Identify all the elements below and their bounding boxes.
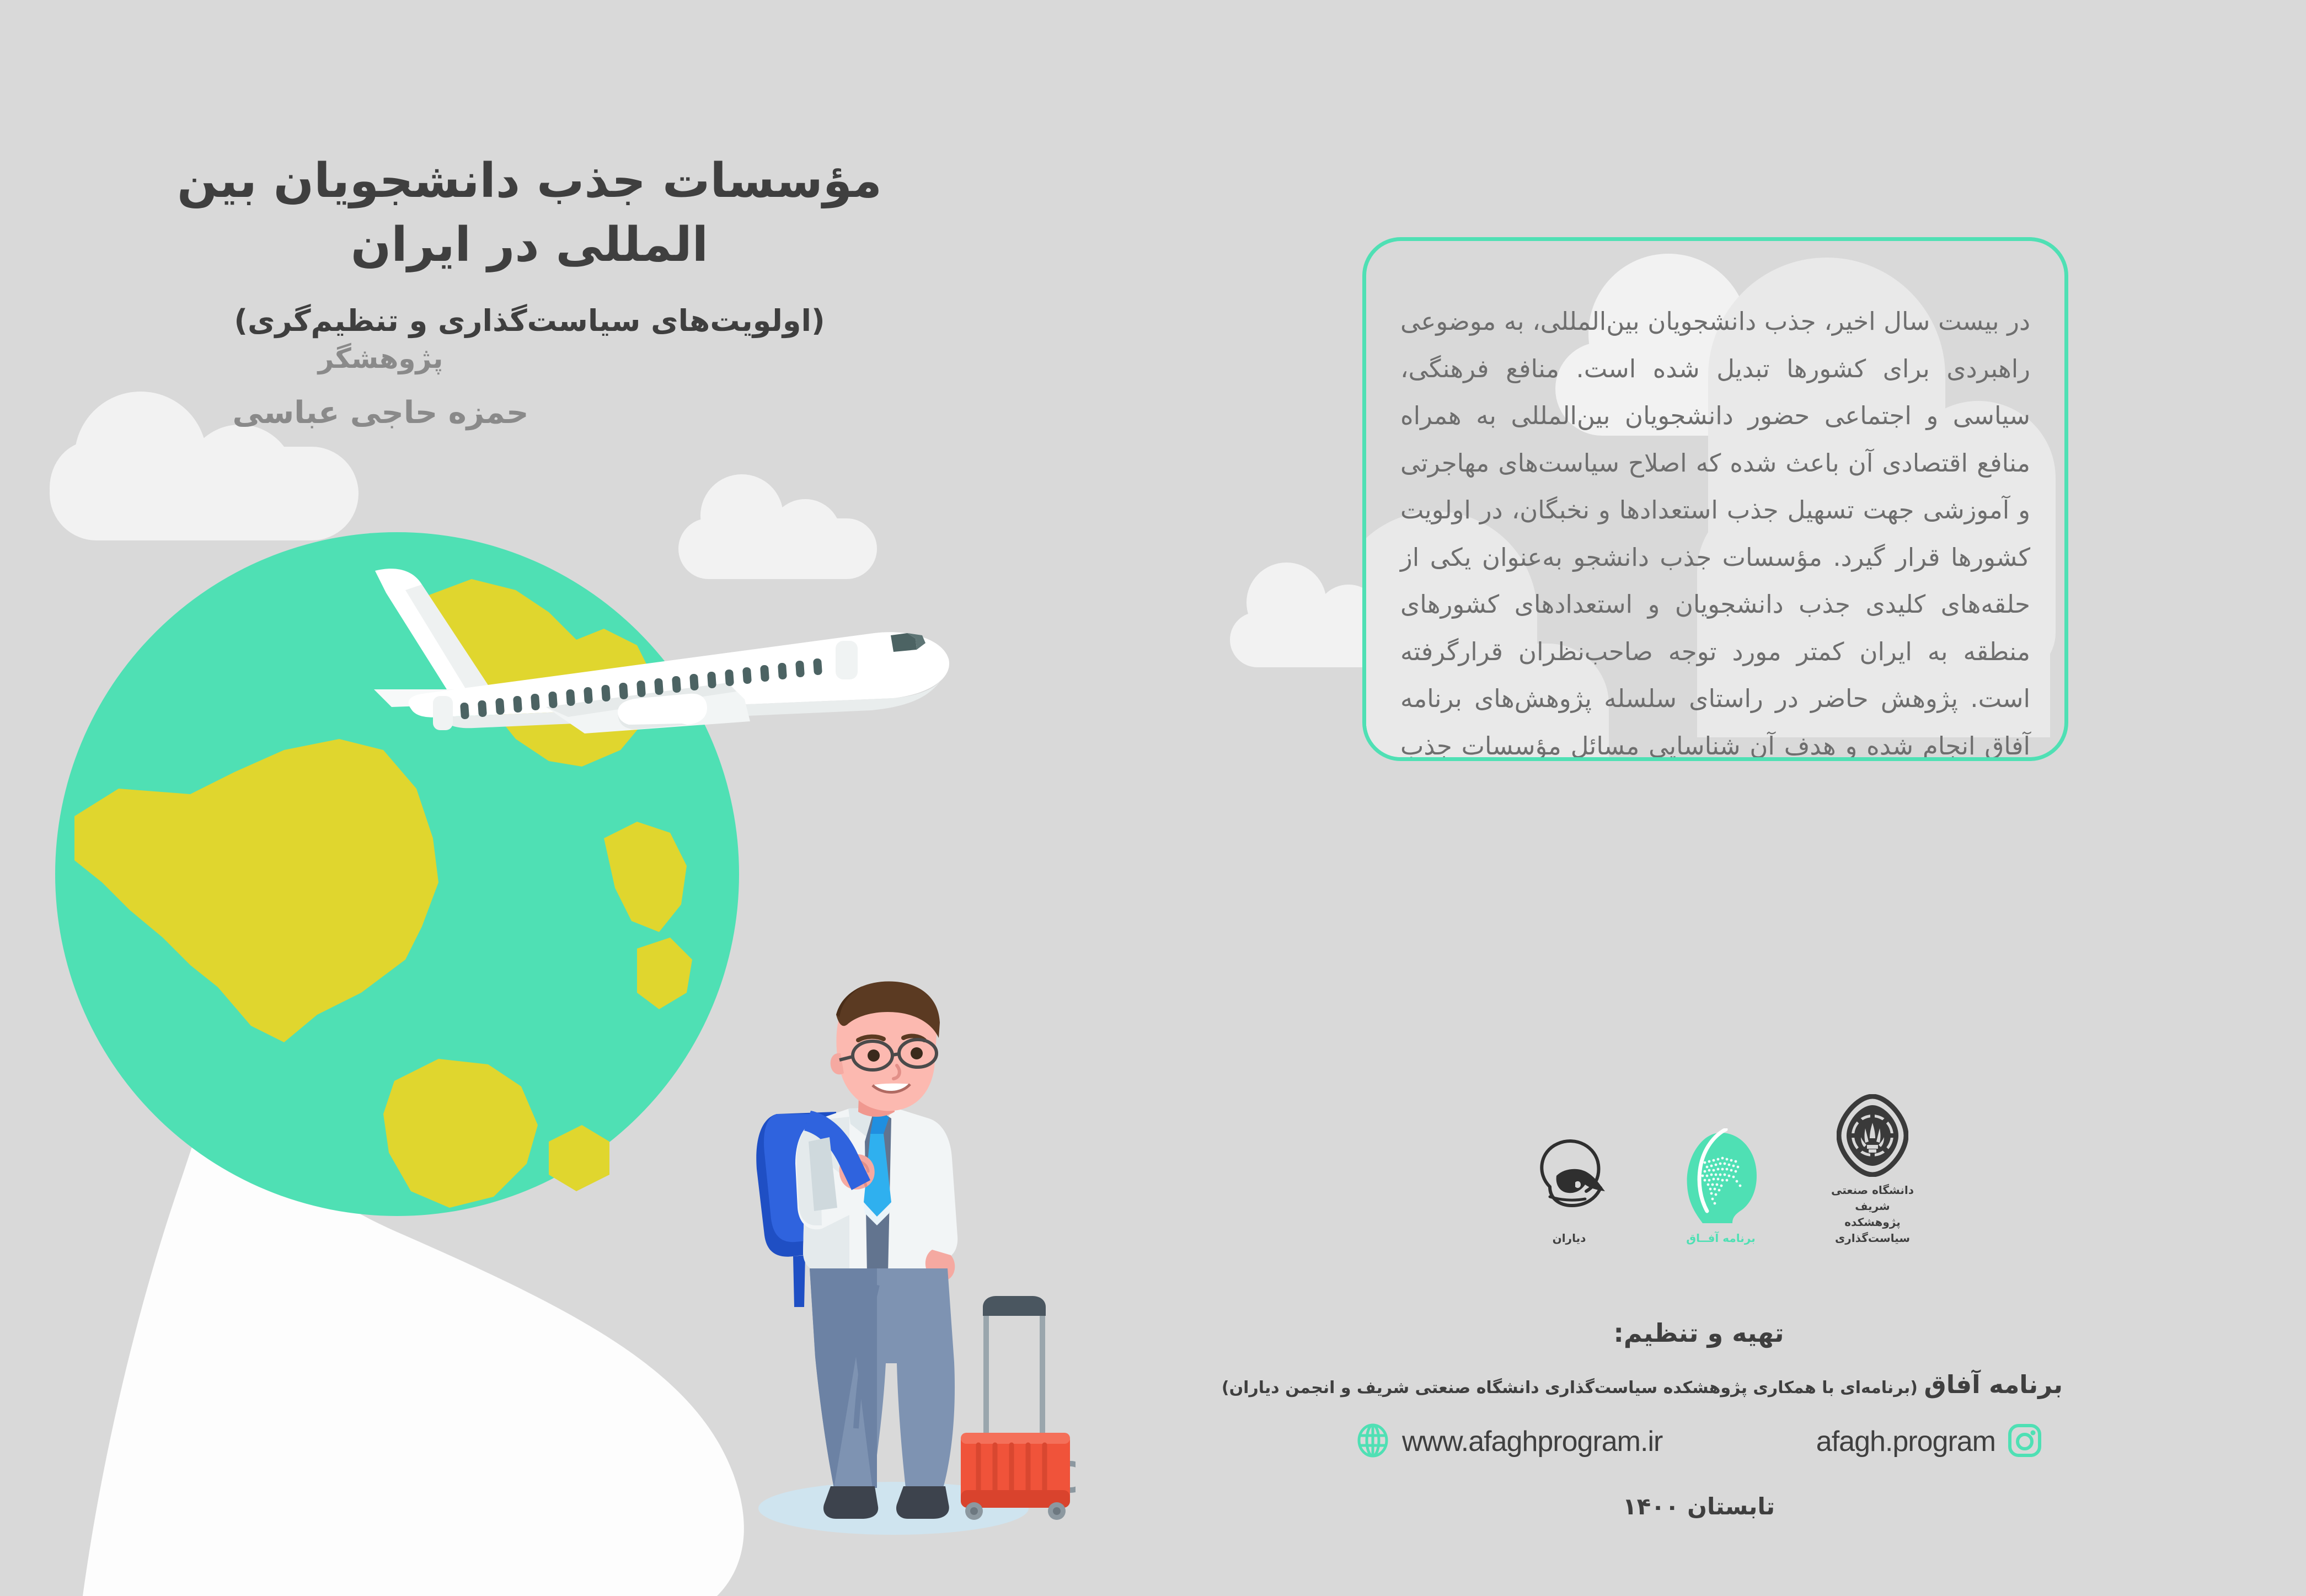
airplane-illustration [309,551,971,805]
instagram-handle: afagh.program [1816,1425,1995,1458]
footer: تهیه و تنظیم: برنامه آفاق (برنامه‌ای با … [1335,1318,2063,1520]
contact-row: www.afaghprogram.ir afagh.program [1335,1423,2063,1460]
logo-caption-sharif: دانشگاه صنعتی شریف پژوهشکده سیاست‌گذاری [1815,1182,1930,1246]
abstract-box: در بیست سال اخیر، جذب دانشجویان بین‌المل… [1362,237,2068,761]
logo-caption-afagh: برنامه آفــاق [1663,1230,1779,1246]
logo-afagh: برنامه آفــاق [1663,1128,1779,1246]
instagram-icon [2008,1423,2042,1460]
footer-heading: تهیه و تنظیم: [1335,1318,2063,1348]
footer-org-name: برنامه آفاق [1924,1370,2063,1399]
student-traveler-illustration [711,976,1076,1539]
footer-org-note: (برنامه‌ای با همکاری پژوهشکده سیاست‌گذار… [1222,1378,1918,1397]
instagram-link[interactable]: afagh.program [1816,1423,2042,1460]
afagh-head-globe-icon [1663,1128,1779,1225]
website-link[interactable]: www.afaghprogram.ir [1356,1423,1662,1460]
document-cover: مؤسسات جذب دانشجویان بین المللی در ایران… [0,0,2306,1596]
logo-caption-diaran: دیاران [1511,1230,1627,1246]
globe-icon [1356,1423,1390,1460]
abstract-text: در بیست سال اخیر، جذب دانشجویان بین‌المل… [1366,266,2064,732]
logo-row: دانشگاه صنعتی شریف پژوهشکده سیاست‌گذاری [1511,1081,1930,1246]
title-block: مؤسسات جذب دانشجویان بین المللی در ایران… [99,149,960,338]
researcher-block: پژوهشگر حمزه حاجی عباسی [99,336,662,438]
logo-diaran: دیاران [1511,1128,1627,1246]
researcher-name: حمزه حاجی عباسی [99,388,662,438]
page-subtitle: (اولویت‌های سیاست‌گذاری و تنظیم‌گری) [99,303,960,338]
page-title: مؤسسات جذب دانشجویان بین المللی در ایران [99,149,960,277]
researcher-role-label: پژوهشگر [99,336,662,381]
diaran-bird-icon [1511,1128,1627,1225]
logo-sharif: دانشگاه صنعتی شریف پژوهشکده سیاست‌گذاری [1815,1080,1930,1246]
website-url: www.afaghprogram.ir [1402,1425,1662,1458]
sharif-university-emblem-icon [1815,1080,1930,1177]
publication-date: تابستان ۱۴۰۰ [1335,1493,2063,1520]
footer-organization: برنامه آفاق (برنامه‌ای با همکاری پژوهشکد… [1335,1370,2063,1399]
